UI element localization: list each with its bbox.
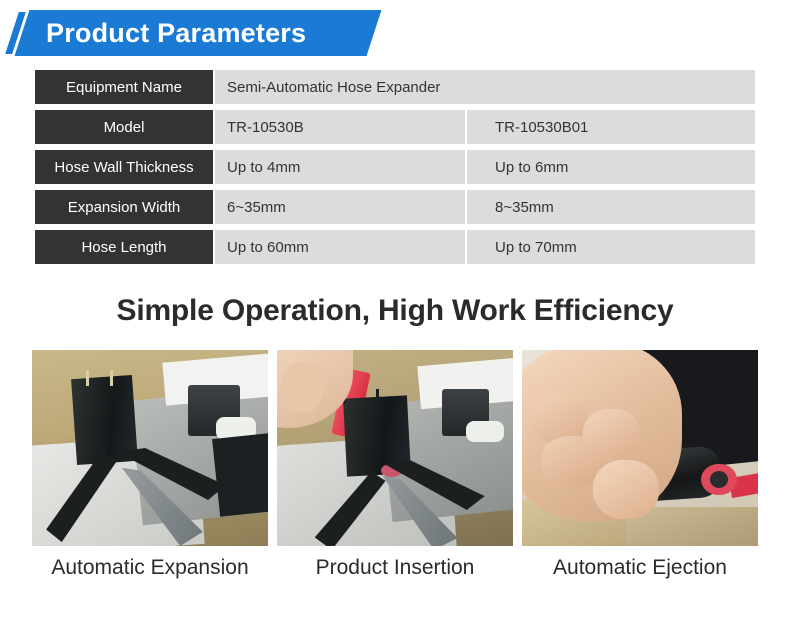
table-row: Expansion Width 6~35mm 8~35mm [35, 190, 755, 224]
banner-title: Product Parameters [46, 10, 306, 56]
spec-value-model-b: TR-10530B01 [467, 110, 755, 144]
photo-caption: Automatic Expansion [32, 556, 268, 580]
photo-cell-product-insertion: Product Insertion [277, 350, 513, 580]
spec-label-model: Model [35, 110, 213, 144]
spec-label-equipment-name: Equipment Name [35, 70, 213, 104]
spec-label-expansion-width: Expansion Width [35, 190, 213, 224]
spec-value-expansion-width-a: 6~35mm [215, 190, 465, 224]
spec-value-hose-wall-thickness-b: Up to 6mm [467, 150, 755, 184]
spec-value-hose-length-b: Up to 70mm [467, 230, 755, 264]
table-row: Hose Wall Thickness Up to 4mm Up to 6mm [35, 150, 755, 184]
table-row: Model TR-10530B TR-10530B01 [35, 110, 755, 144]
process-photo-row: Automatic Expansion Product Insertion [32, 350, 758, 580]
photo-automatic-ejection [522, 350, 758, 546]
section-heading: Simple Operation, High Work Efficiency [0, 294, 790, 328]
spec-value-equipment-name: Semi-Automatic Hose Expander [215, 70, 755, 104]
spec-value-hose-wall-thickness-a: Up to 4mm [215, 150, 465, 184]
product-parameters-banner: Product Parameters [0, 10, 420, 56]
spec-value-expansion-width-b: 8~35mm [467, 190, 755, 224]
photo-cell-automatic-expansion: Automatic Expansion [32, 350, 268, 580]
spec-value-model-a: TR-10530B [215, 110, 465, 144]
spec-value-hose-length-a: Up to 60mm [215, 230, 465, 264]
spec-label-hose-length: Hose Length [35, 230, 213, 264]
specification-table: Equipment Name Semi-Automatic Hose Expan… [35, 70, 755, 270]
photo-caption: Product Insertion [277, 556, 513, 580]
table-row: Equipment Name Semi-Automatic Hose Expan… [35, 70, 755, 104]
spec-label-hose-wall-thickness: Hose Wall Thickness [35, 150, 213, 184]
photo-caption: Automatic Ejection [522, 556, 758, 580]
photo-automatic-expansion [32, 350, 268, 546]
photo-product-insertion [277, 350, 513, 546]
photo-cell-automatic-ejection: Automatic Ejection [522, 350, 758, 580]
table-row: Hose Length Up to 60mm Up to 70mm [35, 230, 755, 264]
